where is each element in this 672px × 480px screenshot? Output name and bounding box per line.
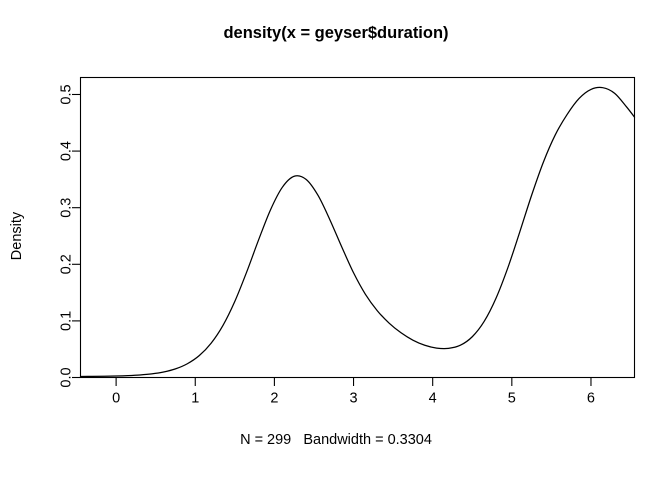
y-axis-ticks: 0.00.10.20.30.40.5 — [59, 84, 81, 387]
x-tick-label: 6 — [587, 391, 595, 407]
x-tick-label: 1 — [191, 391, 199, 407]
y-tick-label: 0.2 — [59, 254, 75, 274]
plot-frame — [81, 78, 635, 378]
x-axis-label: N = 299 Bandwidth = 0.3304 — [0, 432, 672, 448]
x-tick-label: 3 — [350, 391, 358, 407]
density-curve — [81, 87, 635, 376]
y-tick-label: 0.1 — [59, 311, 75, 331]
x-tick-label: 2 — [270, 391, 278, 407]
x-axis-ticks: 0123456 — [112, 378, 595, 407]
y-tick-label: 0.3 — [59, 198, 75, 218]
axis-layer: 0123456 0.00.10.20.30.40.5 — [59, 78, 635, 407]
density-curve-layer — [81, 87, 635, 376]
plot-canvas: 0123456 0.00.10.20.30.40.5 — [0, 0, 672, 480]
y-tick-label: 0.5 — [59, 84, 75, 104]
x-tick-label: 4 — [429, 391, 437, 407]
y-tick-label: 0.0 — [59, 367, 75, 387]
x-tick-label: 0 — [112, 391, 120, 407]
density-plot: density(x = geyser$duration) Density 012… — [0, 0, 672, 480]
y-tick-label: 0.4 — [59, 141, 75, 161]
x-tick-label: 5 — [508, 391, 516, 407]
